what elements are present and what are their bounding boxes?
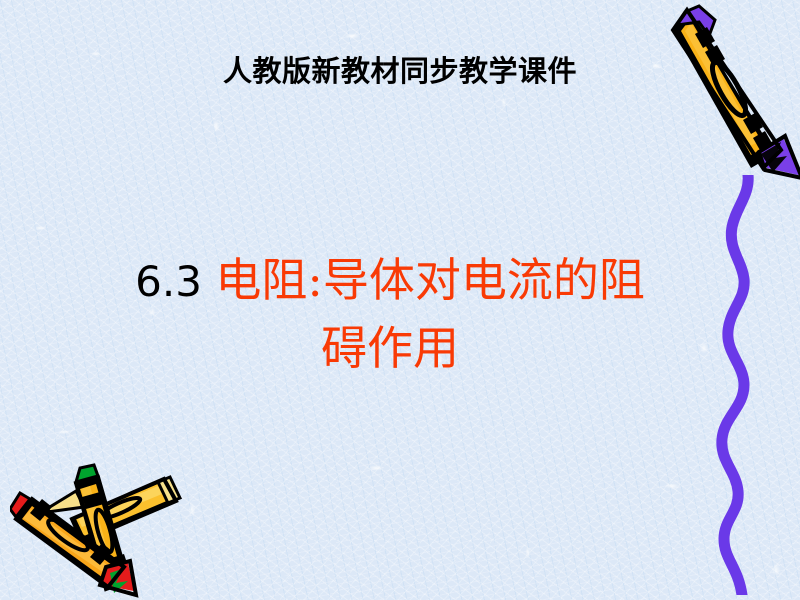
slide-main-title: 6.3 电阻:导体对电流的阻碍作用 <box>95 252 685 388</box>
crayon-top-right-icon <box>655 0 800 197</box>
purple-squiggle-line-icon <box>680 175 800 600</box>
title-section-number: 6.3 <box>135 257 202 306</box>
title-subject-line-2: 碍作用 <box>321 321 459 375</box>
slide-header-title: 人教版新教材同步教学课件 <box>0 48 800 90</box>
crayons-bottom-left-icon <box>10 455 200 600</box>
title-subject-line-1: 电阻:导体对电流的阻 <box>215 253 645 307</box>
title-number-spacer <box>202 257 215 306</box>
presentation-slide: 人教版新教材同步教学课件 6.3 电阻:导体对电流的阻碍作用 <box>0 0 800 600</box>
